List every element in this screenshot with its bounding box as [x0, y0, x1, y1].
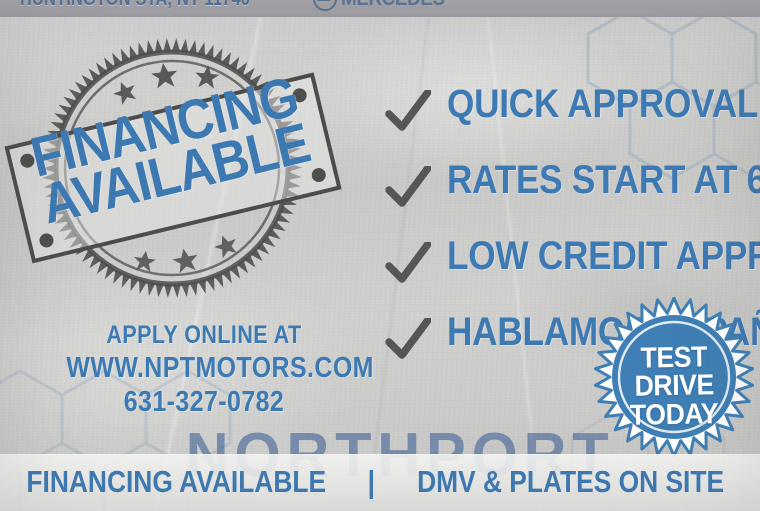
steering-wheel-icon — [313, 0, 337, 11]
check-icon — [385, 242, 431, 286]
benefit-item: QUICK APPROVAL — [385, 78, 760, 154]
apply-online-label: APPLY ONLINE AT — [66, 322, 341, 349]
benefit-label: LOW CREDIT APPROVED — [447, 234, 760, 279]
bottom-financing-label: FINANCING AVAILABLE — [26, 464, 326, 500]
benefit-label: RATES START AT 6.2% — [447, 158, 760, 203]
benefit-item: LOW CREDIT APPROVED — [385, 230, 760, 306]
check-icon — [385, 90, 431, 134]
brand-logo-text: MERCEDES — [341, 0, 445, 11]
test-drive-badge-graphic — [594, 297, 754, 457]
apply-online-block: APPLY ONLINE AT WWW.NPTMOTORS.COM 631-32… — [44, 322, 364, 418]
dealer-address: HUNTINGTON STA, NY 11746 — [20, 0, 250, 11]
test-drive-badge[interactable]: TEST DRIVE TODAY — [594, 297, 754, 457]
bottom-bar-text: FINANCING AVAILABLE | DMV & PLATES ON SI… — [0, 464, 700, 500]
benefit-item: RATES START AT 6.2% — [385, 154, 760, 230]
website-link[interactable]: WWW.NPTMOTORS.COM — [66, 353, 341, 384]
brand-logo: MERCEDES — [313, 0, 456, 11]
check-icon — [385, 318, 431, 362]
phone-number[interactable]: 631-327-0782 — [66, 387, 341, 418]
benefit-label: QUICK APPROVAL — [447, 82, 758, 127]
check-icon — [385, 166, 431, 210]
bottom-info-bar: FINANCING AVAILABLE | DMV & PLATES ON SI… — [0, 454, 760, 511]
top-info-bar: HUNTINGTON STA, NY 11746 MERCEDES — [0, 0, 760, 17]
stamp-rotation-wrapper: FINANCING AVAILABLE — [0, 13, 347, 322]
bottom-dmv-label: DMV & PLATES ON SITE — [417, 464, 724, 500]
financing-available-stamp: FINANCING AVAILABLE — [12, 30, 332, 305]
promo-banner: HUNTINGTON STA, NY 11746 MERCEDES NORTHP… — [0, 0, 760, 511]
bottom-separator: | — [368, 464, 375, 500]
